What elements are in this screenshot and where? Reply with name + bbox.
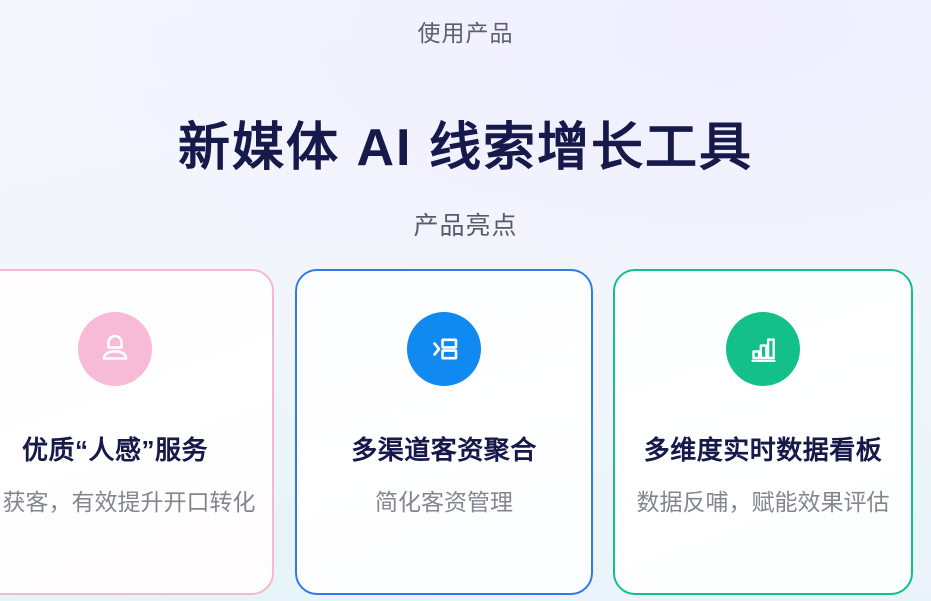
highlight-card-realtime-data-dashboard[interactable]: 多维度实时数据看板 数据反哺，赋能效果评估 [613, 269, 913, 595]
merge-rows-icon [407, 312, 481, 386]
card-description: 简化客资管理 [313, 483, 575, 521]
person-icon [78, 312, 152, 386]
section-label: 产品亮点 [0, 208, 931, 244]
card-icon-wrapper [0, 312, 272, 386]
card-title: 多渠道客资聚合 [297, 431, 591, 469]
card-description: AI 获客，有效提升开口转化 [0, 483, 264, 521]
card-icon-wrapper [615, 312, 911, 386]
highlight-card-multichannel-lead-aggregation[interactable]: 多渠道客资聚合 简化客资管理 [295, 269, 593, 595]
highlight-card-quality-human-service[interactable]: 优质“人感”服务 AI 获客，有效提升开口转化 [0, 269, 274, 595]
card-title: 优质“人感”服务 [0, 431, 264, 469]
card-title: 多维度实时数据看板 [615, 431, 911, 469]
eyebrow-label: 使用产品 [0, 17, 931, 50]
page-title: 新媒体 AI 线索增长工具 [0, 115, 931, 181]
card-description: 数据反哺，赋能效果评估 [631, 483, 895, 521]
bar-chart-icon [726, 312, 800, 386]
product-highlights-page: 使用产品 新媒体 AI 线索增长工具 产品亮点 优质“人感”服务 AI 获客，有… [0, 0, 931, 601]
card-icon-wrapper [297, 312, 591, 386]
